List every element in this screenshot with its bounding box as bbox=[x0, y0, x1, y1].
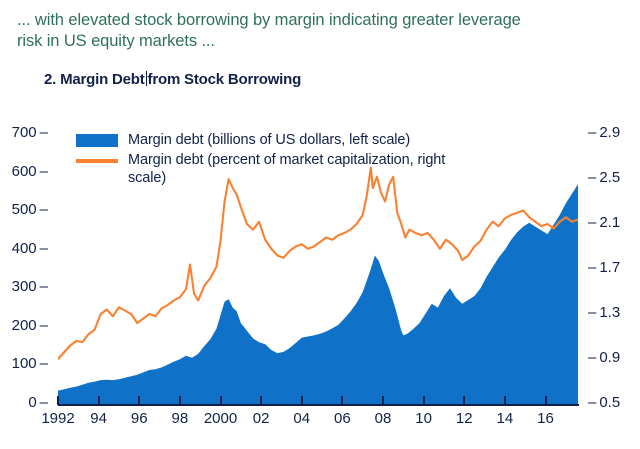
x-axis-tick-label-98: 98 bbox=[172, 410, 189, 427]
x-axis-tick-label-16: 16 bbox=[537, 410, 554, 427]
x-axis-baseline bbox=[58, 404, 579, 406]
x-axis-tickmark-06 bbox=[341, 396, 343, 405]
chart-title: 2. Margin Debtfrom Stock Borrowing bbox=[44, 71, 301, 88]
y-axis-right-tick-0-5: –0.5 bbox=[588, 394, 636, 411]
y-axis-right-tick-2-1: –2.1 bbox=[588, 214, 636, 231]
x-axis-tickmark-12 bbox=[463, 396, 465, 405]
y-axis-left-tick-400: 400– bbox=[8, 240, 48, 257]
x-axis-tickmark-96 bbox=[138, 396, 140, 405]
chart-title-before-caret: 2. Margin Debt bbox=[44, 71, 145, 88]
y-axis-left-tick-300: 300– bbox=[8, 278, 48, 295]
x-axis-tickmark-98 bbox=[179, 396, 181, 405]
y-axis-right-tick-1-7: –1.7 bbox=[588, 259, 636, 276]
legend-swatch-line-icon bbox=[76, 159, 118, 163]
x-axis-tick-label-96: 96 bbox=[131, 410, 148, 427]
y-axis-left-tick-600: 600– bbox=[8, 163, 48, 180]
x-axis-tick-label-06: 06 bbox=[334, 410, 351, 427]
header-caption: ... with elevated stock borrowing by mar… bbox=[17, 10, 623, 52]
x-axis-tick-label-10: 10 bbox=[415, 410, 432, 427]
x-axis-tick-label-94: 94 bbox=[90, 410, 107, 427]
x-axis-tickmark-94 bbox=[98, 396, 100, 405]
text-cursor-caret bbox=[146, 71, 147, 86]
chart-page: ... with elevated stock borrowing by mar… bbox=[0, 0, 640, 449]
legend-swatch-bar-icon bbox=[76, 134, 118, 147]
x-axis-tick-label-12: 12 bbox=[456, 410, 473, 427]
y-axis-left-tick-700: 700– bbox=[8, 124, 48, 141]
x-axis-tick-label-02: 02 bbox=[253, 410, 270, 427]
y-axis-left-tick-500: 500– bbox=[8, 201, 48, 218]
y-axis-right-tick-2-5: –2.5 bbox=[588, 169, 636, 186]
x-axis-tickmark-14 bbox=[504, 396, 506, 405]
x-axis-tickmark-1992 bbox=[57, 396, 59, 405]
header-caption-line-2: risk in US equity markets ... bbox=[17, 31, 623, 52]
legend-label-0: Margin debt (billions of US dollars, lef… bbox=[128, 131, 410, 149]
x-axis-tickmark-16 bbox=[545, 396, 547, 405]
chart-title-after-caret: from Stock Borrowing bbox=[148, 71, 302, 88]
y-axis-left-tick-100: 100– bbox=[8, 355, 48, 372]
y-axis-left-tick-0: 0– bbox=[8, 394, 48, 411]
series-area-margin-debt-billions bbox=[58, 184, 578, 404]
chart-legend: Margin debt (billions of US dollars, lef… bbox=[76, 131, 476, 189]
x-axis-tickmark-02 bbox=[260, 396, 262, 405]
y-axis-right-tick-1-3: –1.3 bbox=[588, 304, 636, 321]
x-axis-tick-label-04: 04 bbox=[293, 410, 310, 427]
y-axis-left-tick-200: 200– bbox=[8, 317, 48, 334]
legend-item-margin-debt-billions: Margin debt (billions of US dollars, lef… bbox=[76, 131, 476, 149]
header-caption-line-1: ... with elevated stock borrowing by mar… bbox=[17, 10, 623, 31]
y-axis-right-tick-0-9: –0.9 bbox=[588, 349, 636, 366]
y-axis-right-tick-2-9: –2.9 bbox=[588, 124, 636, 141]
x-axis-tickmark-08 bbox=[382, 396, 384, 405]
x-axis-tickmark-2000 bbox=[220, 396, 222, 405]
x-axis-tick-label-2000: 2000 bbox=[204, 410, 237, 427]
x-axis-tick-label-08: 08 bbox=[375, 410, 392, 427]
legend-item-margin-debt-percent: Margin debt (percent of market capitaliz… bbox=[76, 151, 476, 187]
legend-label-1: Margin debt (percent of market capitaliz… bbox=[128, 151, 476, 187]
x-axis-tick-label-1992: 1992 bbox=[41, 410, 74, 427]
x-axis-tickmark-10 bbox=[423, 396, 425, 405]
x-axis-tick-label-14: 14 bbox=[497, 410, 514, 427]
x-axis-tickmark-04 bbox=[301, 396, 303, 405]
